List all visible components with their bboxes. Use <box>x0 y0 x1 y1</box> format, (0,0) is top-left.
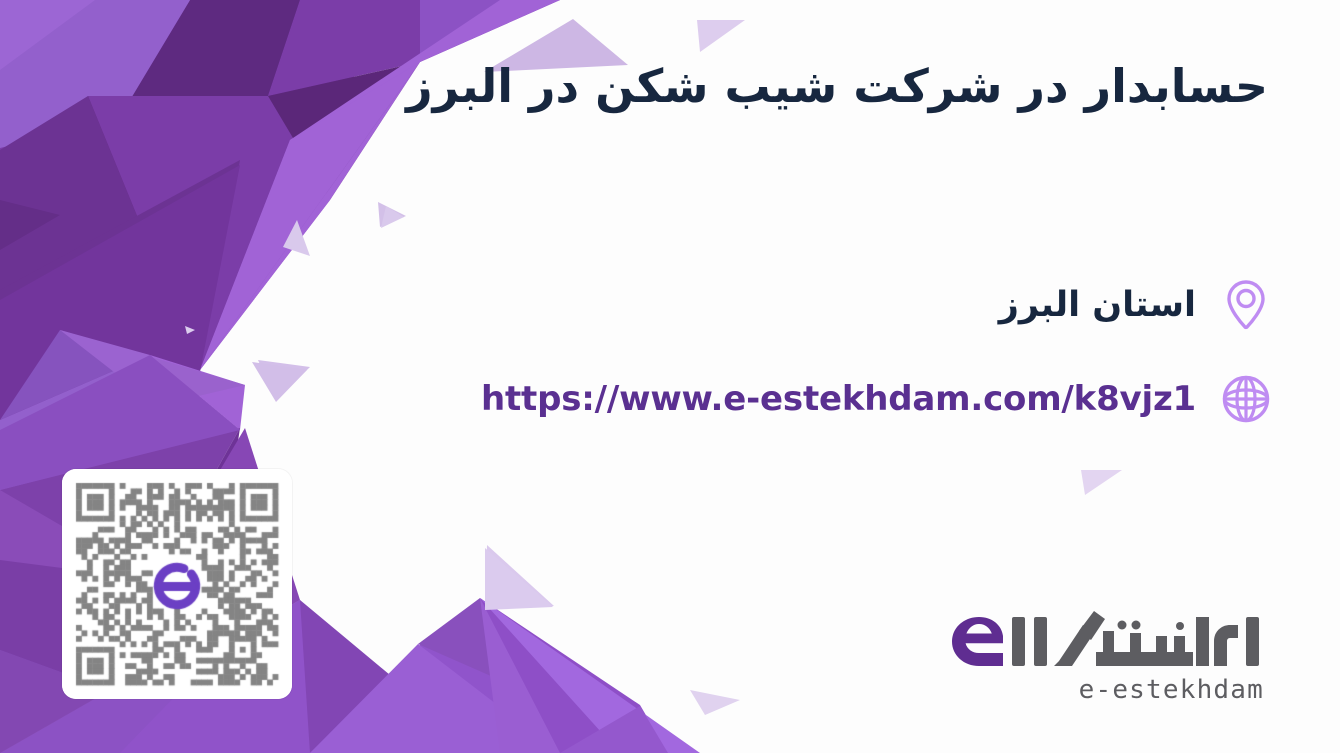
location-row: استان البرز <box>999 277 1274 333</box>
logo-wordmark-latin: e-estekhdam <box>938 675 1268 705</box>
globe-icon <box>1218 371 1274 427</box>
qr-code-canvas[interactable] <box>62 469 292 699</box>
website-row[interactable]: https://www.e-estekhdam.com/k8vjz1 <box>481 371 1274 427</box>
e-mark-icon <box>952 617 1003 666</box>
logo-wordmark-fa <box>946 611 1268 673</box>
logo-letters <box>1012 611 1259 666</box>
page-title: حسابدار در شرکت شیب شکن در البرز <box>208 58 1268 116</box>
map-pin-icon <box>1218 277 1274 333</box>
job-card: حسابدار در شرکت شیب شکن در البرز استان ا… <box>0 0 1340 753</box>
website-url[interactable]: https://www.e-estekhdam.com/k8vjz1 <box>481 382 1196 416</box>
location-label: استان البرز <box>999 288 1196 323</box>
brand-logo: e-estekhdam <box>938 611 1268 705</box>
qr-code[interactable] <box>62 469 292 699</box>
